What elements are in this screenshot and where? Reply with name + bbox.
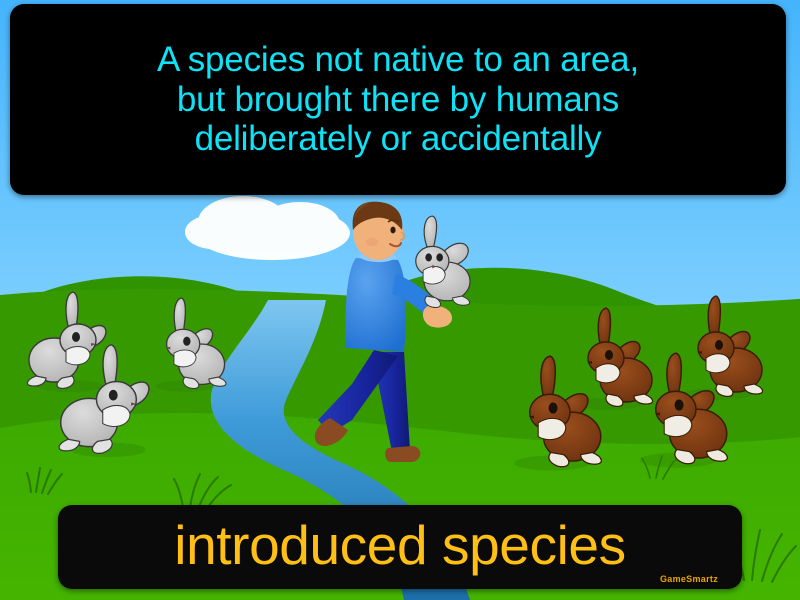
man-cheek: [366, 238, 378, 246]
man-torso: [345, 258, 406, 352]
watermark-label: GameSmartz: [660, 574, 718, 584]
term-banner: introduced species GameSmartz: [58, 505, 742, 589]
term-text: introduced species: [58, 505, 742, 589]
man-eye: [390, 227, 395, 234]
flashcard-image: A species not native to an area, but bro…: [0, 0, 800, 600]
man-back-shoe: [385, 446, 420, 462]
definition-banner: A species not native to an area, but bro…: [10, 4, 786, 195]
definition-text: A species not native to an area, but bro…: [143, 40, 653, 159]
